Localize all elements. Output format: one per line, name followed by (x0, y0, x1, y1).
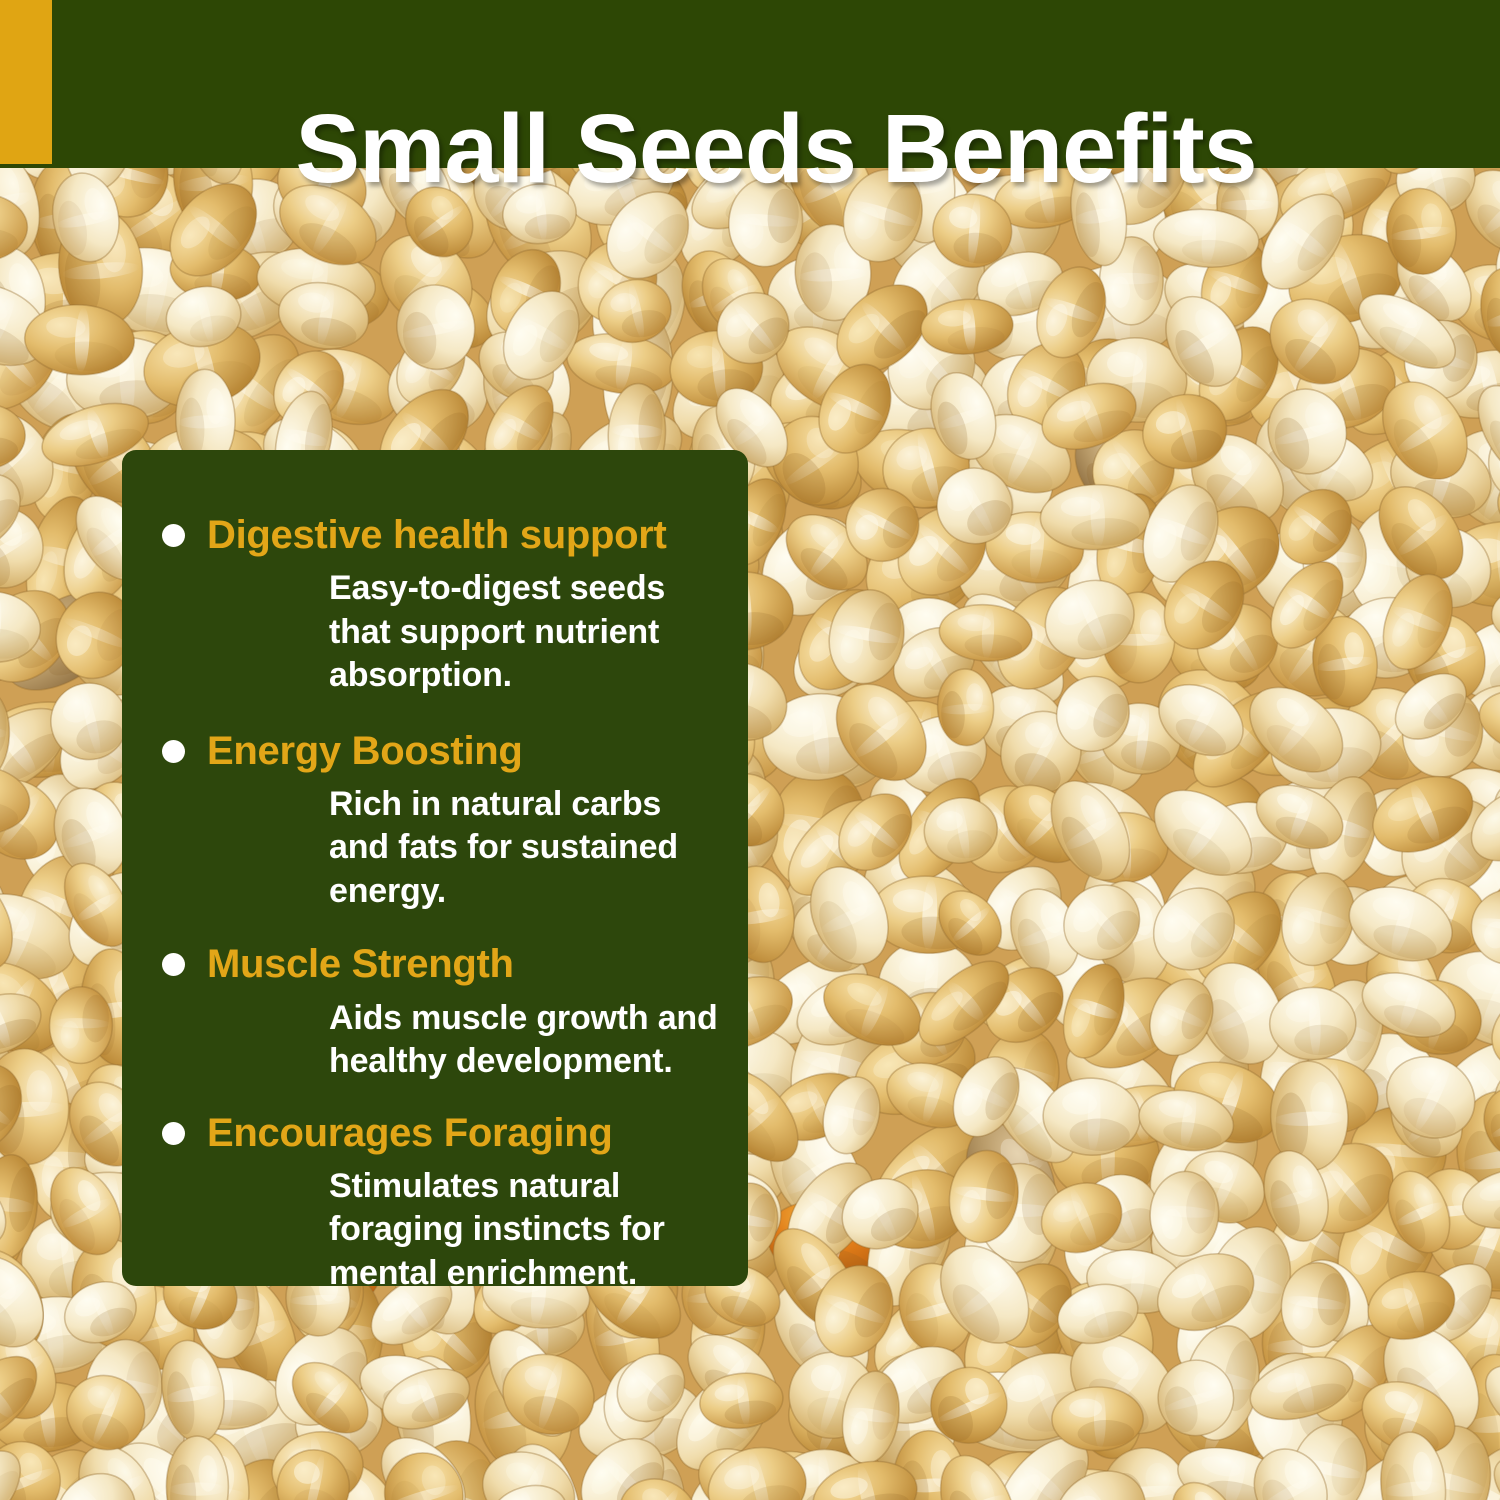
benefit-description: Aids muscle growth and healthy developme… (329, 997, 722, 1084)
benefit-head-row: Energy Boosting (122, 728, 722, 775)
bullet-dot-icon (162, 524, 185, 547)
spacer (122, 698, 748, 728)
benefit-head-row: Encourages Foraging (122, 1110, 722, 1157)
bullet-dot-icon (162, 953, 185, 976)
spacer (122, 1084, 748, 1110)
benefit-item-muscle-strength: Muscle Strength Aids muscle growth and h… (122, 941, 748, 1083)
benefit-item-digestive-health-support: Digestive health support Easy-to-digest … (122, 512, 748, 698)
benefit-title: Digestive health support (207, 512, 667, 559)
benefits-panel: Digestive health support Easy-to-digest … (122, 450, 748, 1286)
benefit-description: Rich in natural carbs and fats for susta… (329, 783, 722, 914)
bullet-dot-icon (162, 1122, 185, 1145)
benefit-description: Stimulates natural foraging instincts fo… (329, 1165, 722, 1296)
benefit-head-row: Digestive health support (122, 512, 722, 559)
benefit-title: Encourages Foraging (207, 1110, 612, 1157)
benefit-item-encourages-foraging: Encourages Foraging Stimulates natural f… (122, 1110, 748, 1296)
header-accent-bar (0, 0, 52, 164)
spacer (122, 913, 748, 941)
bullet-dot-icon (162, 740, 185, 763)
infographic-canvas: Small Seeds Benefits Digestive health su… (0, 0, 1500, 1500)
benefit-title: Energy Boosting (207, 728, 523, 775)
benefit-title: Muscle Strength (207, 941, 514, 988)
benefit-item-energy-boosting: Energy Boosting Rich in natural carbs an… (122, 728, 748, 914)
benefit-description: Easy-to-digest seeds that support nutrie… (329, 567, 722, 698)
page-title: Small Seeds Benefits (52, 65, 1500, 233)
benefit-head-row: Muscle Strength (122, 941, 722, 988)
